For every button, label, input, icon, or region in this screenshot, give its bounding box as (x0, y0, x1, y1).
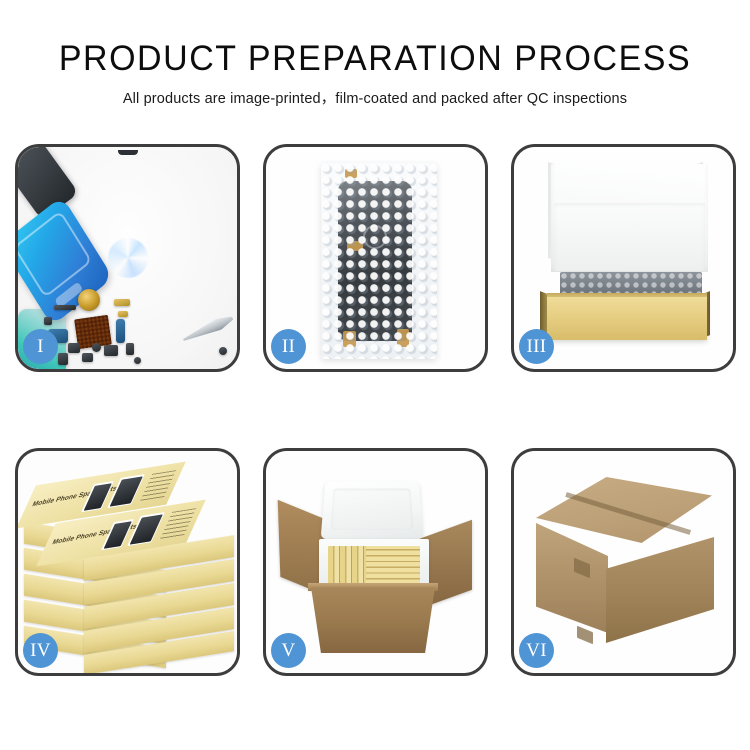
speaker-coil-icon (78, 289, 100, 311)
carton-right-face-icon (606, 537, 714, 643)
packed-yellow-boxes-icon (328, 546, 420, 584)
process-step-6: VI (511, 448, 736, 676)
header: PRODUCT PREPARATION PROCESS All products… (0, 38, 750, 108)
part-chip-icon (44, 317, 52, 325)
yellow-inner-box-icon (547, 297, 707, 340)
step-4-image: Mobile Phone Spare Parts Mobile Phone Sp… (18, 451, 237, 673)
box-spec-text-icon (160, 508, 197, 540)
process-step-grid: I II (15, 144, 735, 676)
part-screw-right-icon (219, 347, 227, 355)
process-step-2: II (263, 144, 488, 372)
bubble-texture-icon (321, 163, 437, 359)
tweezers-icon (181, 313, 235, 346)
styrofoam-lid-icon (321, 481, 424, 539)
part-gold-clip-icon (118, 311, 128, 317)
step-badge-2: II (271, 329, 306, 364)
infographic-page: PRODUCT PREPARATION PROCESS All products… (0, 0, 750, 750)
part-screw-small-icon (134, 357, 141, 364)
process-step-3: III (511, 144, 736, 372)
carton-tape-icon (577, 626, 593, 644)
part-bracket-icon (68, 343, 80, 353)
step-badge-3: III (519, 329, 554, 364)
part-connector-icon (82, 353, 93, 362)
part-flex-ribbon-icon (116, 319, 125, 343)
process-step-1: I (15, 144, 240, 372)
step-1-image: I (18, 147, 237, 369)
step-badge-4: IV (23, 633, 58, 668)
part-sim-tray-icon (126, 343, 134, 355)
page-subtitle: All products are image-printed，film-coat… (0, 87, 750, 108)
step-badge-1: I (23, 329, 58, 364)
carton-front-icon (311, 587, 435, 653)
process-step-4: Mobile Phone Spare Parts Mobile Phone Sp… (15, 448, 240, 676)
part-button-icon (58, 353, 68, 365)
bubble-wrap-bag-icon (321, 163, 437, 359)
carton-left-face-icon (536, 523, 608, 633)
part-screw-icon (92, 343, 101, 352)
step-5-image: V (266, 451, 485, 673)
page-title: PRODUCT PREPARATION PROCESS (11, 38, 739, 80)
box-spec-text-icon (140, 470, 177, 502)
process-step-5: V (263, 448, 488, 676)
part-strip-icon (54, 305, 76, 310)
part-gold-bracket-icon (114, 299, 130, 306)
part-camera-icon (104, 345, 118, 356)
step-3-image: III (514, 147, 733, 369)
step-badge-5: V (271, 633, 306, 668)
step-6-image: VI (514, 451, 733, 673)
step-2-image: II (266, 147, 485, 369)
foam-sheet-icon (554, 203, 705, 271)
step-badge-6: VI (519, 633, 554, 668)
